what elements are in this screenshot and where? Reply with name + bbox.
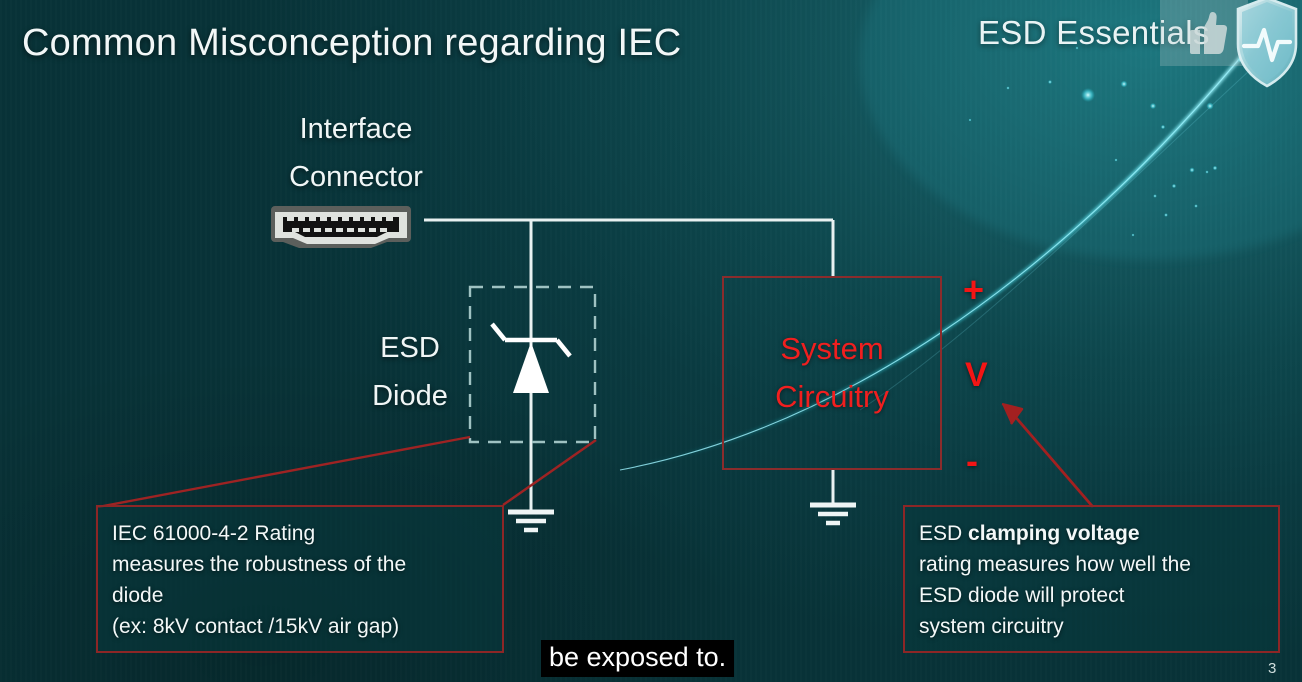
callout-left-line1: IEC 61000-4-2 Rating — [112, 518, 488, 549]
slide-title: Common Misconception regarding IEC — [22, 22, 681, 65]
ground-icon-left — [508, 512, 554, 530]
esd-diode-label-line2: Diode — [335, 373, 485, 421]
esd-diode-label-line1: ESD — [335, 325, 485, 373]
system-circuitry-box: System Circuitry — [722, 276, 942, 470]
interface-connector-label-line1: Interface — [246, 106, 466, 154]
shield-pulse-icon — [1234, 0, 1300, 92]
interface-connector-label-line2: Connector — [246, 154, 466, 202]
interface-connector-label: Interface Connector — [246, 106, 466, 202]
callout-right-line2: rating measures how well the — [919, 549, 1264, 580]
callout-iec-rating: IEC 61000-4-2 Rating measures the robust… — [96, 505, 504, 653]
voltage-minus-label: - — [966, 440, 978, 482]
callout-left-line2: measures the robustness of the — [112, 549, 488, 580]
callout-right-line3: ESD diode will protect — [919, 580, 1264, 611]
callout-right-line1-prefix: ESD — [919, 522, 968, 545]
slide-canvas: Common Misconception regarding IEC ESD E… — [0, 0, 1302, 682]
callout-left-line3: diode — [112, 580, 488, 611]
callout-clamping-voltage: ESD clamping voltage rating measures how… — [903, 505, 1280, 653]
callout-right-line1-emphasis: clamping voltage — [968, 522, 1140, 545]
page-number: 3 — [1268, 660, 1276, 677]
voltage-v-label: V — [965, 356, 988, 395]
ground-icon-right — [810, 505, 856, 523]
system-circuitry-line1: System — [780, 325, 883, 373]
thumbs-up-glyph — [1178, 8, 1230, 58]
callout-right-line1: ESD clamping voltage — [919, 518, 1264, 549]
esd-diode-label: ESD Diode — [335, 325, 485, 421]
callout-left-line4: (ex: 8kV contact /15kV air gap) — [112, 611, 488, 642]
clamping-voltage-arrow — [1002, 404, 1093, 507]
system-circuitry-line2: Circuitry — [775, 373, 889, 421]
voltage-plus-label: + — [963, 269, 984, 311]
callout-right-line4: system circuitry — [919, 611, 1264, 642]
hdmi-connector-icon — [265, 203, 427, 251]
video-caption: be exposed to. — [541, 640, 734, 677]
